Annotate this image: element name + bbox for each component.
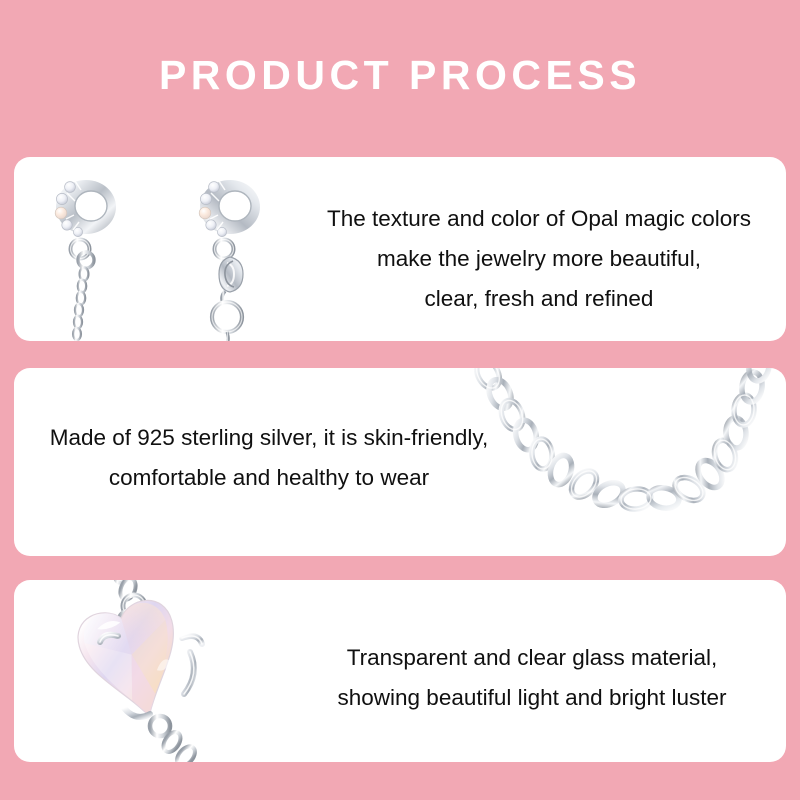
card-3-line-2: showing beautiful light and bright luste… bbox=[304, 678, 760, 718]
page-title-bar: PRODUCT PROCESS bbox=[0, 0, 800, 150]
opal-heart-stone bbox=[72, 594, 195, 729]
charm-bail-left bbox=[55, 180, 116, 340]
sterling-silver-chain-photo bbox=[456, 368, 786, 556]
heart-setting-prongs bbox=[100, 635, 202, 717]
opal-heart-pendant-photo bbox=[32, 580, 302, 762]
card-1-text: The texture and color of Opal magic colo… bbox=[310, 199, 768, 319]
top-chain bbox=[113, 580, 139, 602]
card-3-text: Transparent and clear glass material, sh… bbox=[304, 638, 760, 718]
bottom-chain bbox=[160, 729, 198, 762]
card-1-line-1: The texture and color of Opal magic colo… bbox=[310, 199, 768, 239]
card-2-text: Made of 925 sterling silver, it is skin-… bbox=[38, 418, 500, 498]
feature-card-glass-material: Transparent and clear glass material, sh… bbox=[14, 580, 786, 762]
feature-card-opal-color: The texture and color of Opal magic colo… bbox=[14, 157, 786, 341]
product-process-infographic: PRODUCT PROCESS bbox=[0, 0, 800, 800]
opal-charm-bails-photo bbox=[34, 157, 314, 341]
card-3-line-1: Transparent and clear glass material, bbox=[304, 638, 760, 678]
card-1-line-3: clear, fresh and refined bbox=[310, 279, 768, 319]
lobster-clasp bbox=[219, 257, 243, 303]
chain-links bbox=[472, 368, 771, 511]
card-2-line-2: comfortable and healthy to wear bbox=[38, 458, 500, 498]
fine-chain bbox=[73, 267, 88, 340]
card-2-line-1: Made of 925 sterling silver, it is skin-… bbox=[38, 418, 500, 458]
page-title: PRODUCT PROCESS bbox=[159, 55, 641, 96]
card-1-line-2: make the jewelry more beautiful, bbox=[310, 239, 768, 279]
charm-bail-right bbox=[199, 180, 260, 341]
feature-card-sterling-silver: Made of 925 sterling silver, it is skin-… bbox=[14, 368, 786, 556]
